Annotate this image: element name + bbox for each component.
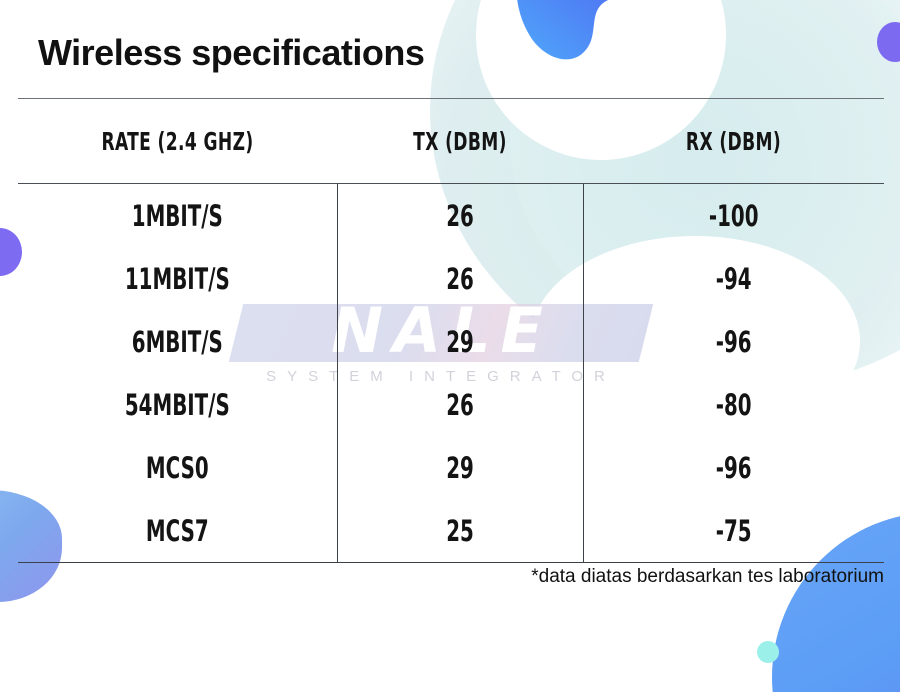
cell-tx: 25 bbox=[367, 499, 554, 563]
cell-rate: MCS0 bbox=[56, 436, 298, 499]
slide-root: NALE SYSTEM INTEGRATOR Wireless specific… bbox=[0, 0, 900, 692]
cell-tx: 26 bbox=[367, 247, 554, 310]
cell-rate: 11MBIT/S bbox=[56, 247, 298, 310]
table-row: MCS0 29 -96 bbox=[18, 436, 884, 499]
cell-rx: -100 bbox=[619, 184, 848, 248]
cell-rate: 54MBIT/S bbox=[56, 373, 298, 436]
cell-rate: 6MBIT/S bbox=[56, 310, 298, 373]
bottom-rule-cell bbox=[367, 563, 554, 564]
spec-table-container: RATE (2.4 GHZ) TX (DBM) RX (DBM) 1MBIT/S… bbox=[18, 98, 884, 563]
table-head: RATE (2.4 GHZ) TX (DBM) RX (DBM) bbox=[18, 99, 884, 184]
cell-tx: 29 bbox=[367, 310, 554, 373]
cell-rx: -80 bbox=[619, 373, 848, 436]
table-row: 11MBIT/S 26 -94 bbox=[18, 247, 884, 310]
cell-rate: 1MBIT/S bbox=[56, 184, 298, 248]
column-header-rx: RX (DBM) bbox=[619, 99, 848, 184]
table-row: MCS7 25 -75 bbox=[18, 499, 884, 563]
wireless-spec-table: RATE (2.4 GHZ) TX (DBM) RX (DBM) 1MBIT/S… bbox=[18, 98, 884, 563]
table-bottom-rule-row bbox=[18, 563, 884, 564]
table-body: 1MBIT/S 26 -100 11MBIT/S 26 -94 6MBIT/S … bbox=[18, 184, 884, 564]
bottom-rule-cell bbox=[56, 563, 298, 564]
table-row: 6MBIT/S 29 -96 bbox=[18, 310, 884, 373]
cell-rx: -96 bbox=[619, 310, 848, 373]
bottom-rule-cell bbox=[619, 563, 848, 564]
cell-rx: -75 bbox=[619, 499, 848, 563]
cell-tx: 29 bbox=[367, 436, 554, 499]
column-header-rate: RATE (2.4 GHZ) bbox=[56, 99, 298, 184]
slide-content: Wireless specifications RATE (2.4 GHZ) T… bbox=[0, 0, 900, 692]
page-title: Wireless specifications bbox=[38, 32, 424, 74]
table-header-row: RATE (2.4 GHZ) TX (DBM) RX (DBM) bbox=[18, 99, 884, 184]
cell-rx: -96 bbox=[619, 436, 848, 499]
cell-tx: 26 bbox=[367, 373, 554, 436]
column-header-tx: TX (DBM) bbox=[367, 99, 554, 184]
table-row: 1MBIT/S 26 -100 bbox=[18, 184, 884, 248]
cell-tx: 26 bbox=[367, 184, 554, 248]
cell-rate: MCS7 bbox=[56, 499, 298, 563]
footnote-text: *data diatas berdasarkan tes laboratoriu… bbox=[18, 566, 884, 588]
table-row: 54MBIT/S 26 -80 bbox=[18, 373, 884, 436]
cell-rx: -94 bbox=[619, 247, 848, 310]
